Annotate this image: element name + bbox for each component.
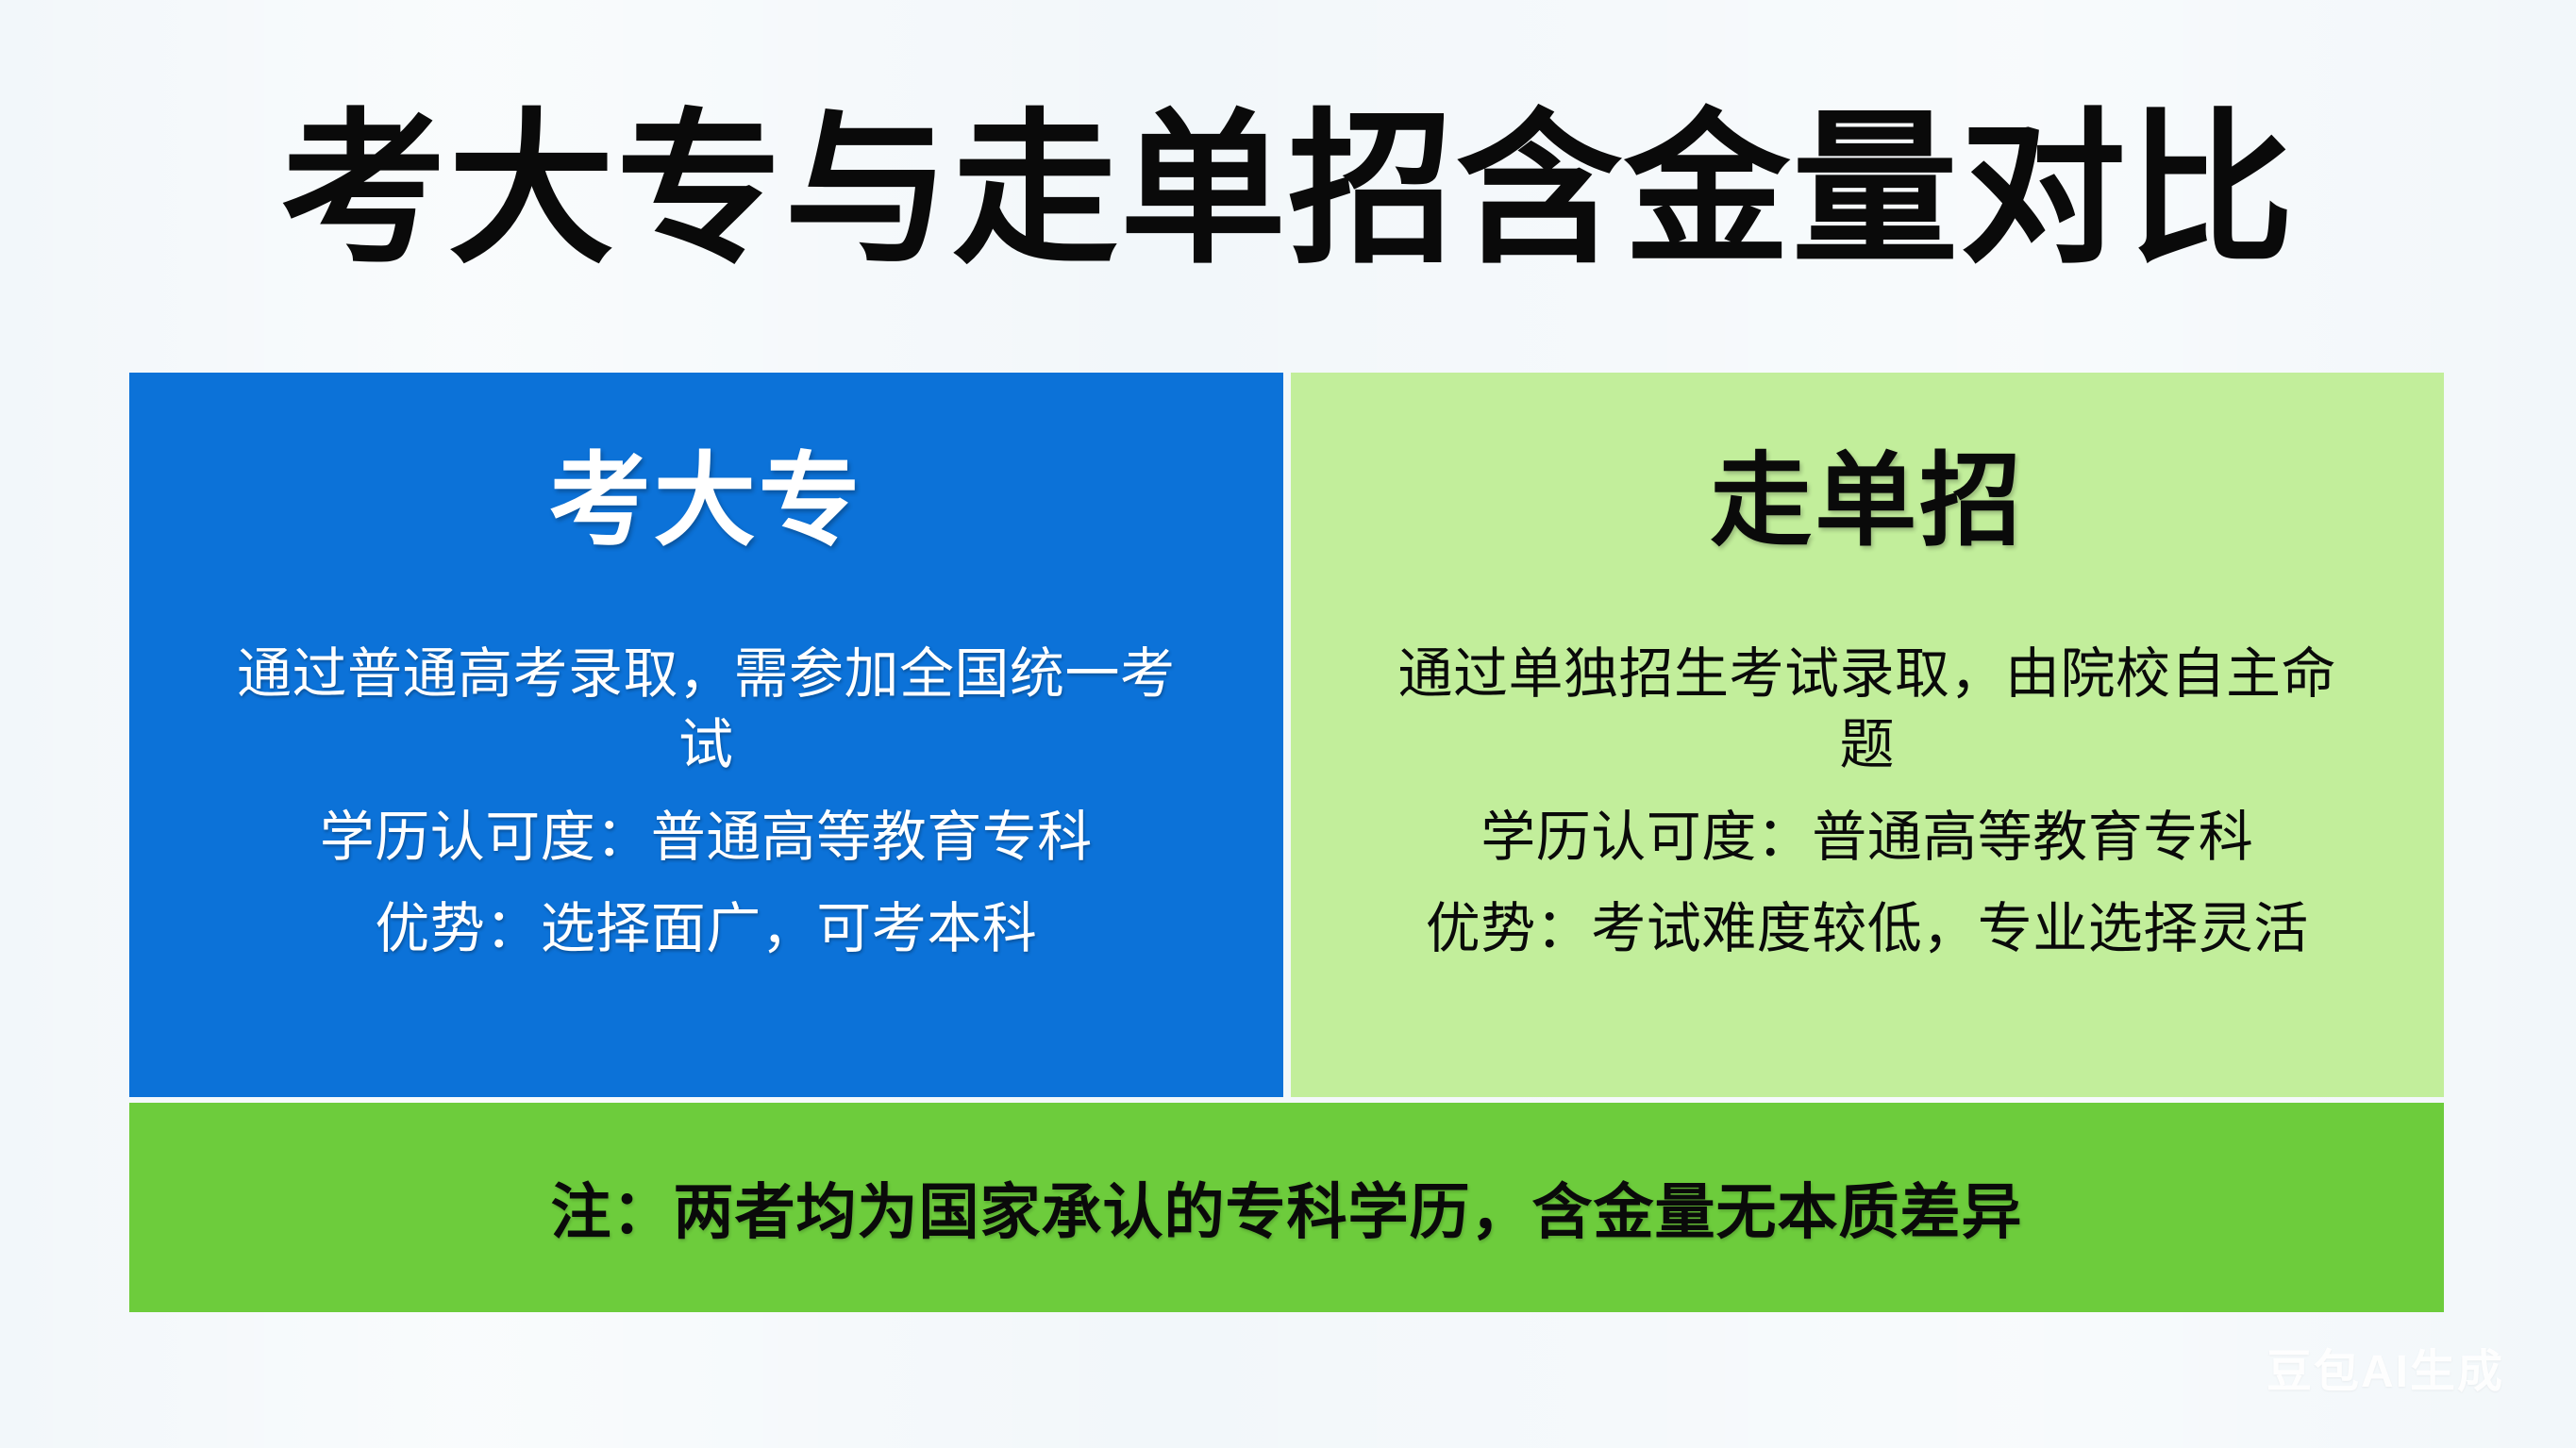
note-text: 注：两者均为国家承认的专科学历，含金量无本质差异 (551, 1164, 2023, 1251)
panel-body-zou-dan-zhao: 通过单独招生考试录取，由院校自主命题 学历认可度：普通高等教育专科 优势：考试难… (1313, 639, 2422, 965)
panel-line-advantage: 优势：选择面广，可考本科 (375, 893, 1037, 964)
panel-heading-kao-da-zhuan: 考大专 (549, 450, 863, 552)
panel-line-recognition: 学历认可度：普通高等教育专科 (320, 802, 1093, 873)
page-title: 考大专与走单招含金量对比 (0, 98, 2576, 284)
panel-line-advantage: 优势：考试难度较低，专业选择灵活 (1426, 893, 2309, 964)
panel-body-kao-da-zhuan: 通过普通高考录取，需参加全国统一考试 学历认可度：普通高等教育专科 优势：选择面… (152, 639, 1261, 965)
panel-zou-dan-zhao: 走单招 通过单独招生考试录取，由院校自主命题 学历认可度：普通高等教育专科 优势… (1291, 373, 2445, 1097)
panel-line-admission: 通过单独招生考试录取，由院校自主命题 (1377, 639, 2358, 781)
panel-heading-zou-dan-zhao: 走单招 (1710, 450, 2024, 552)
panel-line-recognition: 学历认可度：普通高等教育专科 (1480, 802, 2253, 873)
infographic-page: 考大专与走单招含金量对比 考大专 通过普通高考录取，需参加全国统一考试 学历认可… (0, 0, 2576, 1448)
note-bar: 注：两者均为国家承认的专科学历，含金量无本质差异 (129, 1103, 2444, 1312)
panel-line-admission: 通过普通高考录取，需参加全国统一考试 (215, 639, 1196, 781)
watermark: 豆包AI生成 (2267, 1334, 2504, 1400)
panel-kao-da-zhuan: 考大专 通过普通高考录取，需参加全国统一考试 学历认可度：普通高等教育专科 优势… (129, 373, 1283, 1097)
comparison-panels: 考大专 通过普通高考录取，需参加全国统一考试 学历认可度：普通高等教育专科 优势… (129, 373, 2444, 1097)
